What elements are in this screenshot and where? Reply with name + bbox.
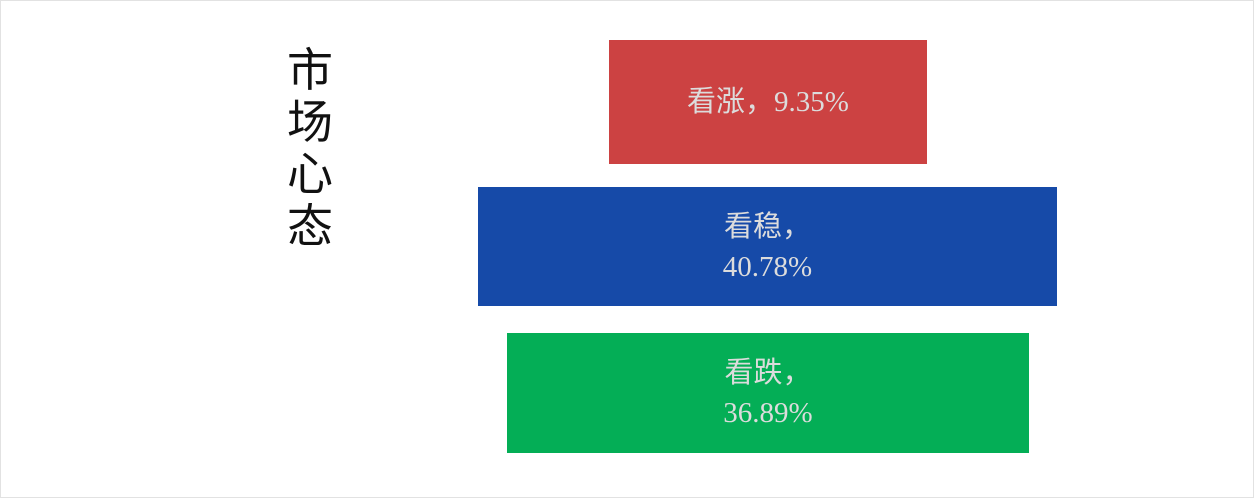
funnel-bar-bearish-label: 看跌， 36.89% [717,353,818,433]
funnel-bar-bullish-label: 看涨，9.35% [681,82,855,122]
funnel-bar-bullish[interactable]: 看涨，9.35% [609,40,927,164]
funnel-bar-neutral[interactable]: 看稳， 40.78% [478,187,1057,306]
category-axis-label: 市 场 心 态 [284,45,336,260]
funnel-bar-neutral-label: 看稳， 40.78% [717,207,818,287]
funnel-bar-bearish[interactable]: 看跌， 36.89% [507,333,1029,453]
chart-canvas: 市 场 心 态 看涨，9.35% 看稳， 40.78% 看跌， 36.89% [0,0,1254,498]
